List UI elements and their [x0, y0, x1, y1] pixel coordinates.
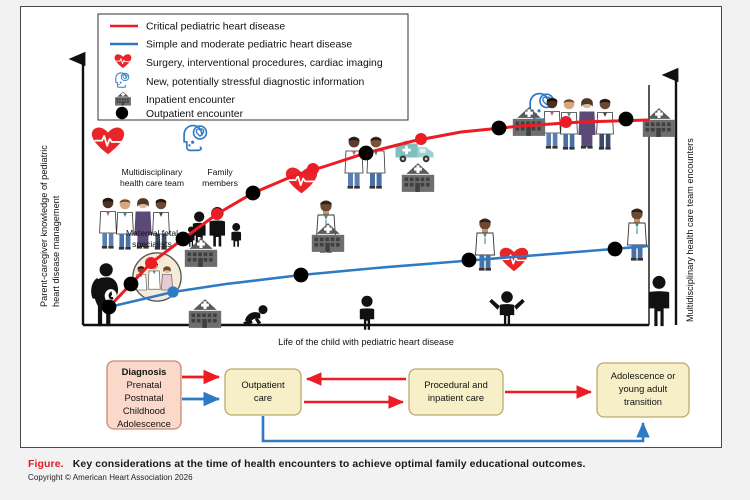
procedure-marker: [211, 208, 223, 220]
crawling-baby-icon: [243, 305, 267, 325]
outpatient-marker: [359, 146, 374, 161]
caption-figure-label: Figure.: [28, 458, 64, 470]
outpatient-marker: [176, 232, 191, 247]
procedure-marker: [167, 286, 178, 297]
annotation-line-1: Maternal fetal: [126, 228, 178, 238]
legend-label-outpatient: Outpatient encounter: [146, 109, 244, 120]
head-thought-heart-icon: [184, 126, 206, 151]
box-line-2: young adult: [619, 383, 668, 394]
y-axis-left-line1: Parent-caregiver knowledge of pediatric: [39, 145, 49, 307]
hospital-icon: [643, 108, 675, 137]
legend-item-simple: Simple and moderate pediatric heart dise…: [110, 40, 352, 51]
child-arms-up-icon: [489, 291, 524, 325]
procedure-marker: [307, 163, 319, 175]
adult-standing-icon: [649, 276, 669, 326]
annotation-line-1: Family: [207, 167, 233, 177]
box-line-1: Outpatient: [241, 379, 285, 390]
outpatient-marker: [294, 268, 309, 283]
heart-ekg-icon: [500, 248, 529, 272]
legend-label-simple: Simple and moderate pediatric heart dise…: [146, 40, 352, 51]
outpatient-marker: [492, 121, 507, 136]
box-line-5: Adolescence: [117, 418, 171, 429]
y-axis-left-line2: heart disease management: [51, 195, 61, 307]
procedure-marker: [560, 116, 572, 128]
black-dot-icon: [116, 107, 128, 119]
outpatient-marker: [102, 300, 117, 315]
figure-svg: Parent-caregiver knowledge of pediatric …: [21, 7, 721, 447]
pregnant-woman-icon: [93, 263, 118, 326]
box-line-2: care: [254, 392, 272, 403]
flow-box-procedural-inpatient-care[interactable]: Procedural and inpatient care: [409, 369, 503, 415]
procedure-marker: [145, 257, 157, 269]
doctor-icon: [476, 218, 495, 270]
flow-box-outpatient-care[interactable]: Outpatient care: [225, 369, 301, 415]
annotation-line-2: specialists: [132, 239, 172, 249]
annotation-maternal-fetal-specialists: Maternal fetal specialists: [126, 228, 178, 249]
x-axis-label: Life of the child with pediatric heart d…: [278, 337, 454, 347]
annotation-multidisciplinary-team: Multidisciplinary health care team: [120, 167, 184, 188]
figure-panel: Parent-caregiver knowledge of pediatric …: [20, 6, 722, 448]
procedure-marker: [415, 133, 427, 145]
box-line-1: Adolescence or: [611, 370, 676, 381]
legend-label-inpatient: Inpatient encounter: [146, 95, 236, 106]
y-axis-right-label: Multidisciplinary health care team encou…: [685, 138, 695, 322]
legend-label-critical: Critical pediatric heart disease: [146, 22, 285, 33]
box-line-2: Prenatal: [127, 379, 162, 390]
legend: Critical pediatric heart disease Simple …: [98, 14, 408, 120]
annotation-family-members: Family members: [202, 167, 238, 188]
outpatient-marker: [124, 277, 139, 292]
caption-text: Key considerations at the time of health…: [73, 458, 586, 470]
box-line-2: inpatient care: [428, 392, 484, 403]
outpatient-marker: [246, 186, 261, 201]
box-line-4: Childhood: [123, 405, 165, 416]
hospital-icon: [189, 299, 221, 328]
legend-label-surgery: Surgery, interventional procedures, card…: [146, 58, 383, 69]
flow-diagram: Diagnosis Prenatal Postnatal Childhood A…: [107, 361, 689, 441]
doctor-pair-icon: [345, 137, 385, 189]
y-axis-left-label: Parent-caregiver knowledge of pediatric …: [39, 145, 61, 307]
box-line-1: Diagnosis: [122, 366, 167, 377]
box-line-1: Procedural and: [424, 379, 488, 390]
figure-caption: Figure.Key considerations at the time of…: [28, 458, 728, 482]
plot-pictograms: [92, 94, 675, 330]
hospital-icon: [402, 163, 434, 192]
copyright-notice: Copyright © American Heart Association 2…: [28, 473, 728, 482]
outpatient-marker: [619, 112, 634, 127]
heart-ekg-icon: [92, 128, 124, 155]
annotation-line-1: Multidisciplinary: [122, 167, 183, 177]
outpatient-marker: [462, 253, 477, 268]
flow-arrow-outpatient-to-adolescence-simple: [263, 416, 643, 441]
box-line-3: Postnatal: [124, 392, 163, 403]
flow-box-adolescence-transition[interactable]: Adolescence or young adult transition: [597, 363, 689, 417]
hospital-icon: [312, 223, 344, 252]
outpatient-marker: [608, 242, 623, 257]
box-line-3: transition: [624, 396, 662, 407]
flow-box-diagnosis[interactable]: Diagnosis Prenatal Postnatal Childhood A…: [107, 361, 181, 429]
annotation-line-2: members: [202, 178, 238, 188]
doctor-icon: [628, 208, 647, 260]
legend-label-diagnostic-info: New, potentially stressful diagnostic in…: [146, 77, 365, 88]
annotation-line-2: health care team: [120, 178, 184, 188]
